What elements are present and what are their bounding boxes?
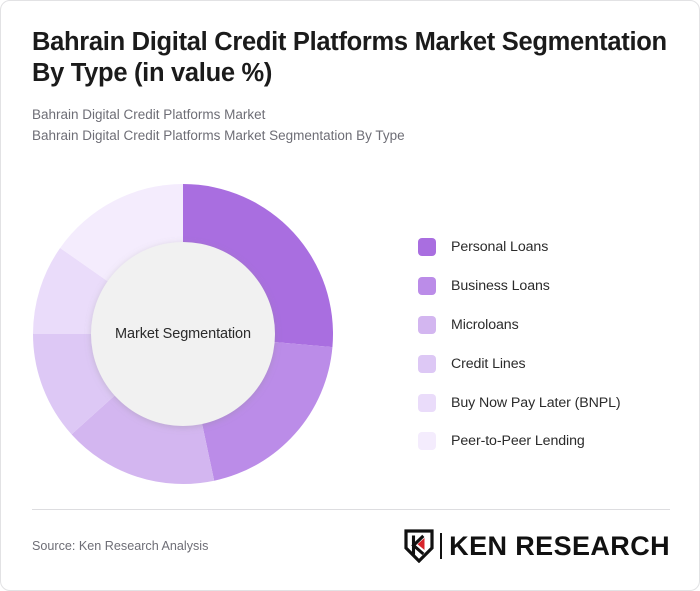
legend-swatch bbox=[418, 432, 436, 450]
legend-item[interactable]: Buy Now Pay Later (BNPL) bbox=[418, 383, 683, 422]
subtitle-block: Bahrain Digital Credit Platforms Market … bbox=[32, 105, 672, 147]
legend-label: Personal Loans bbox=[451, 239, 548, 255]
legend-swatch bbox=[418, 277, 436, 295]
legend-item[interactable]: Business Loans bbox=[418, 267, 683, 306]
legend-label: Microloans bbox=[451, 317, 519, 333]
legend-item[interactable]: Personal Loans bbox=[418, 228, 683, 267]
legend-item[interactable]: Peer-to-Peer Lending bbox=[418, 422, 683, 461]
source-note: Source: Ken Research Analysis bbox=[32, 539, 208, 553]
logo-wordmark: KEN RESEARCH bbox=[449, 533, 670, 560]
legend-swatch bbox=[418, 238, 436, 256]
donut-chart: Market Segmentation bbox=[33, 184, 333, 484]
chart-legend: Personal LoansBusiness LoansMicroloansCr… bbox=[418, 228, 683, 461]
ken-research-shield-icon bbox=[404, 529, 434, 563]
subtitle-line-2: Bahrain Digital Credit Platforms Market … bbox=[32, 126, 672, 147]
legend-item[interactable]: Microloans bbox=[418, 306, 683, 345]
chart-card: Bahrain Digital Credit Platforms Market … bbox=[0, 0, 700, 591]
legend-swatch bbox=[418, 394, 436, 412]
legend-label: Peer-to-Peer Lending bbox=[451, 433, 585, 449]
chart-header: Bahrain Digital Credit Platforms Market … bbox=[32, 27, 672, 147]
legend-swatch bbox=[418, 316, 436, 334]
logo-divider bbox=[440, 533, 442, 559]
page-title: Bahrain Digital Credit Platforms Market … bbox=[32, 27, 672, 89]
legend-swatch bbox=[418, 355, 436, 373]
ken-research-logo: KEN RESEARCH bbox=[404, 525, 670, 567]
plot-area: Market Segmentation Personal LoansBusine… bbox=[1, 161, 700, 509]
legend-label: Business Loans bbox=[451, 278, 550, 294]
subtitle-line-1: Bahrain Digital Credit Platforms Market bbox=[32, 105, 672, 126]
legend-label: Buy Now Pay Later (BNPL) bbox=[451, 395, 621, 411]
donut-svg bbox=[33, 184, 333, 484]
legend-label: Credit Lines bbox=[451, 356, 526, 372]
donut-hole bbox=[91, 242, 275, 426]
legend-item[interactable]: Credit Lines bbox=[418, 344, 683, 383]
footer-divider bbox=[32, 509, 670, 510]
